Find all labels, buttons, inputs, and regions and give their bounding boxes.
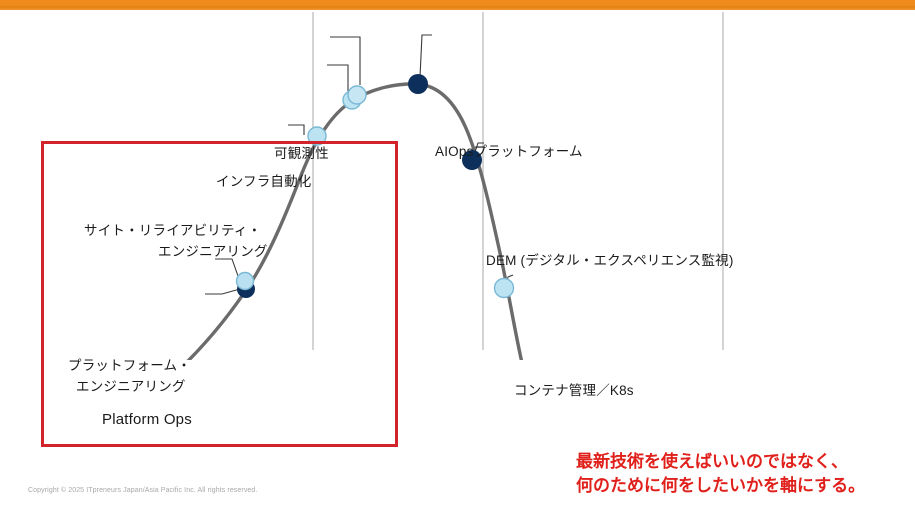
label-platform-engineering-line1: プラットフォーム・ (68, 356, 191, 375)
copyright-text: Copyright © 2025 ITpreneurs Japan/Asia P… (28, 487, 257, 494)
point-observability (348, 86, 366, 104)
slide-canvas: Gartnerのハイプサイクル（拡大） https://www.gartner.… (0, 0, 915, 510)
label-sre-line1: サイト・リライアビリティ・ (84, 221, 261, 240)
label-aiops-platform: AIOpsプラットフォーム (435, 142, 583, 161)
point-container-k8s (495, 279, 514, 298)
label-container-k8s: コンテナ管理／K8s (514, 381, 634, 400)
point-aiops-platform (408, 74, 428, 94)
key-message-line1: 最新技術を使えばいいのではなく、 (576, 450, 911, 474)
key-message: 最新技術を使えばいいのではなく、 何のために何をしたいかを軸にする。 (576, 450, 911, 498)
label-observability: 可観測性 (274, 144, 329, 163)
key-message-line2: 何のために何をしたいかを軸にする。 (576, 474, 911, 498)
label-platform-engineering-line2: エンジニアリング (76, 377, 186, 396)
label-infra-automation: インフラ自動化 (216, 172, 312, 191)
label-platform-ops: Platform Ops (102, 410, 192, 429)
label-dem: DEM (デジタル・エクスペリエンス監視) (486, 251, 734, 270)
label-sre-line2: エンジニアリング (158, 242, 268, 261)
